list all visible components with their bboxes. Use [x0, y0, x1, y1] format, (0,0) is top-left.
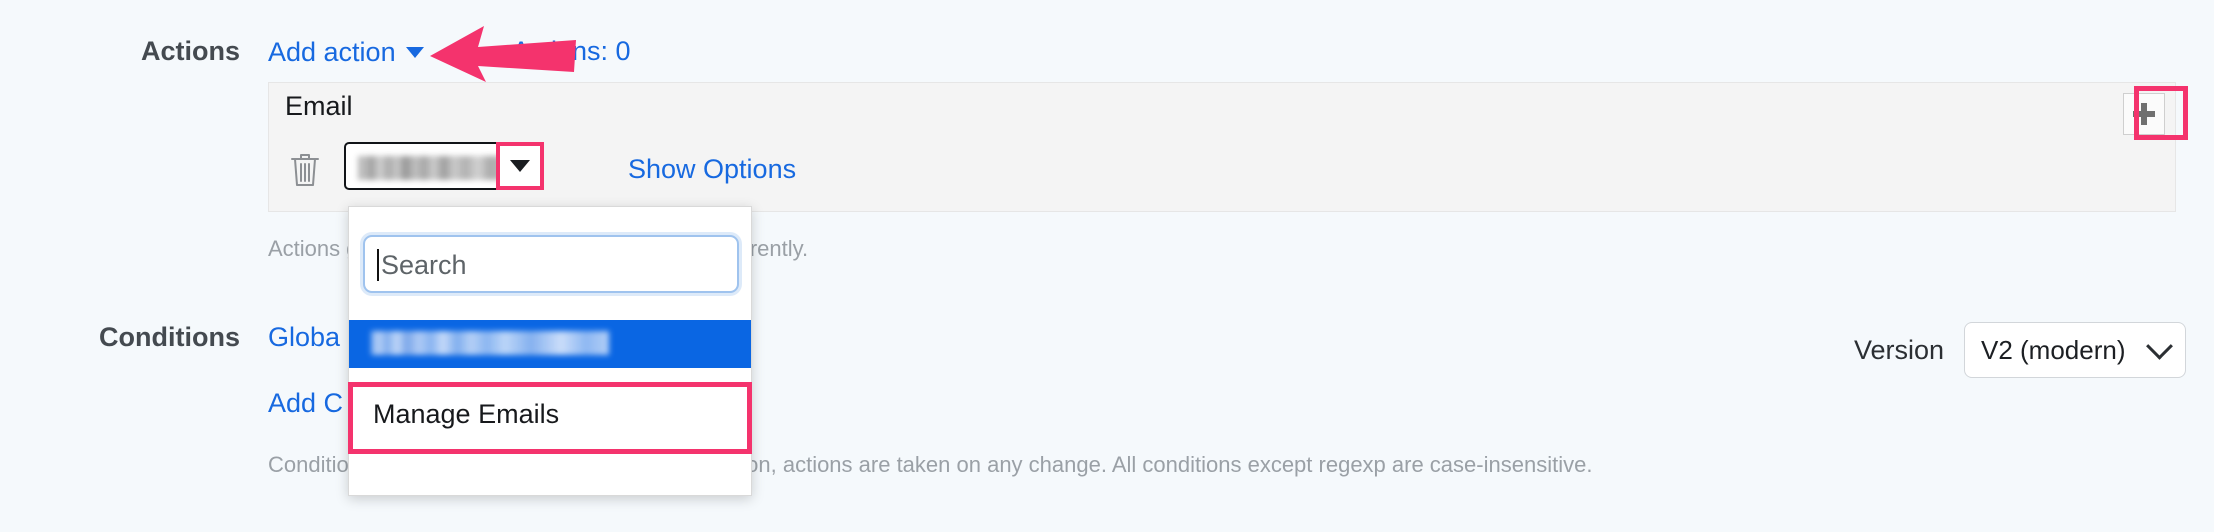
manage-emails-label: Manage Emails [373, 399, 559, 430]
chevron-down-icon [510, 160, 530, 172]
left-arrow-annotation-icon [428, 20, 578, 84]
version-label: Version [1854, 335, 1944, 366]
trash-icon[interactable] [288, 150, 322, 188]
dropdown-option-value-redacted [371, 331, 609, 355]
email-action-card: Email [268, 82, 2176, 212]
settings-panel: Actions Add action Actions: 0 Email Show… [0, 0, 2214, 532]
email-select-caret-button[interactable] [496, 142, 544, 190]
global-conditions-link[interactable]: Globa [268, 322, 340, 353]
version-control: Version V2 (modern) [1854, 322, 2186, 378]
add-condition-link[interactable]: Add C [268, 388, 343, 419]
chevron-down-icon [2146, 332, 2173, 359]
email-dropdown-popup: Search Manage Emails [348, 206, 752, 496]
dropdown-option-manage-emails[interactable]: Manage Emails [349, 383, 751, 445]
text-cursor [377, 249, 379, 281]
email-select[interactable] [344, 142, 544, 190]
search-placeholder: Search [381, 250, 467, 281]
version-select-value: V2 (modern) [1981, 335, 2126, 366]
actions-row-label: Actions [60, 36, 240, 67]
version-select[interactable]: V2 (modern) [1964, 322, 2186, 378]
add-action-label: Add action [268, 37, 396, 68]
conditions-row-label: Conditions [60, 322, 240, 353]
plus-button-highlight [2134, 86, 2188, 140]
add-action-dropdown-button[interactable]: Add action [268, 36, 424, 68]
show-options-link[interactable]: Show Options [628, 154, 796, 185]
dropdown-option-selected[interactable] [349, 320, 751, 368]
search-input[interactable]: Search [363, 235, 739, 293]
email-select-value-redacted [358, 156, 510, 180]
action-card-title: Email [285, 91, 353, 122]
chevron-down-icon [406, 47, 424, 58]
